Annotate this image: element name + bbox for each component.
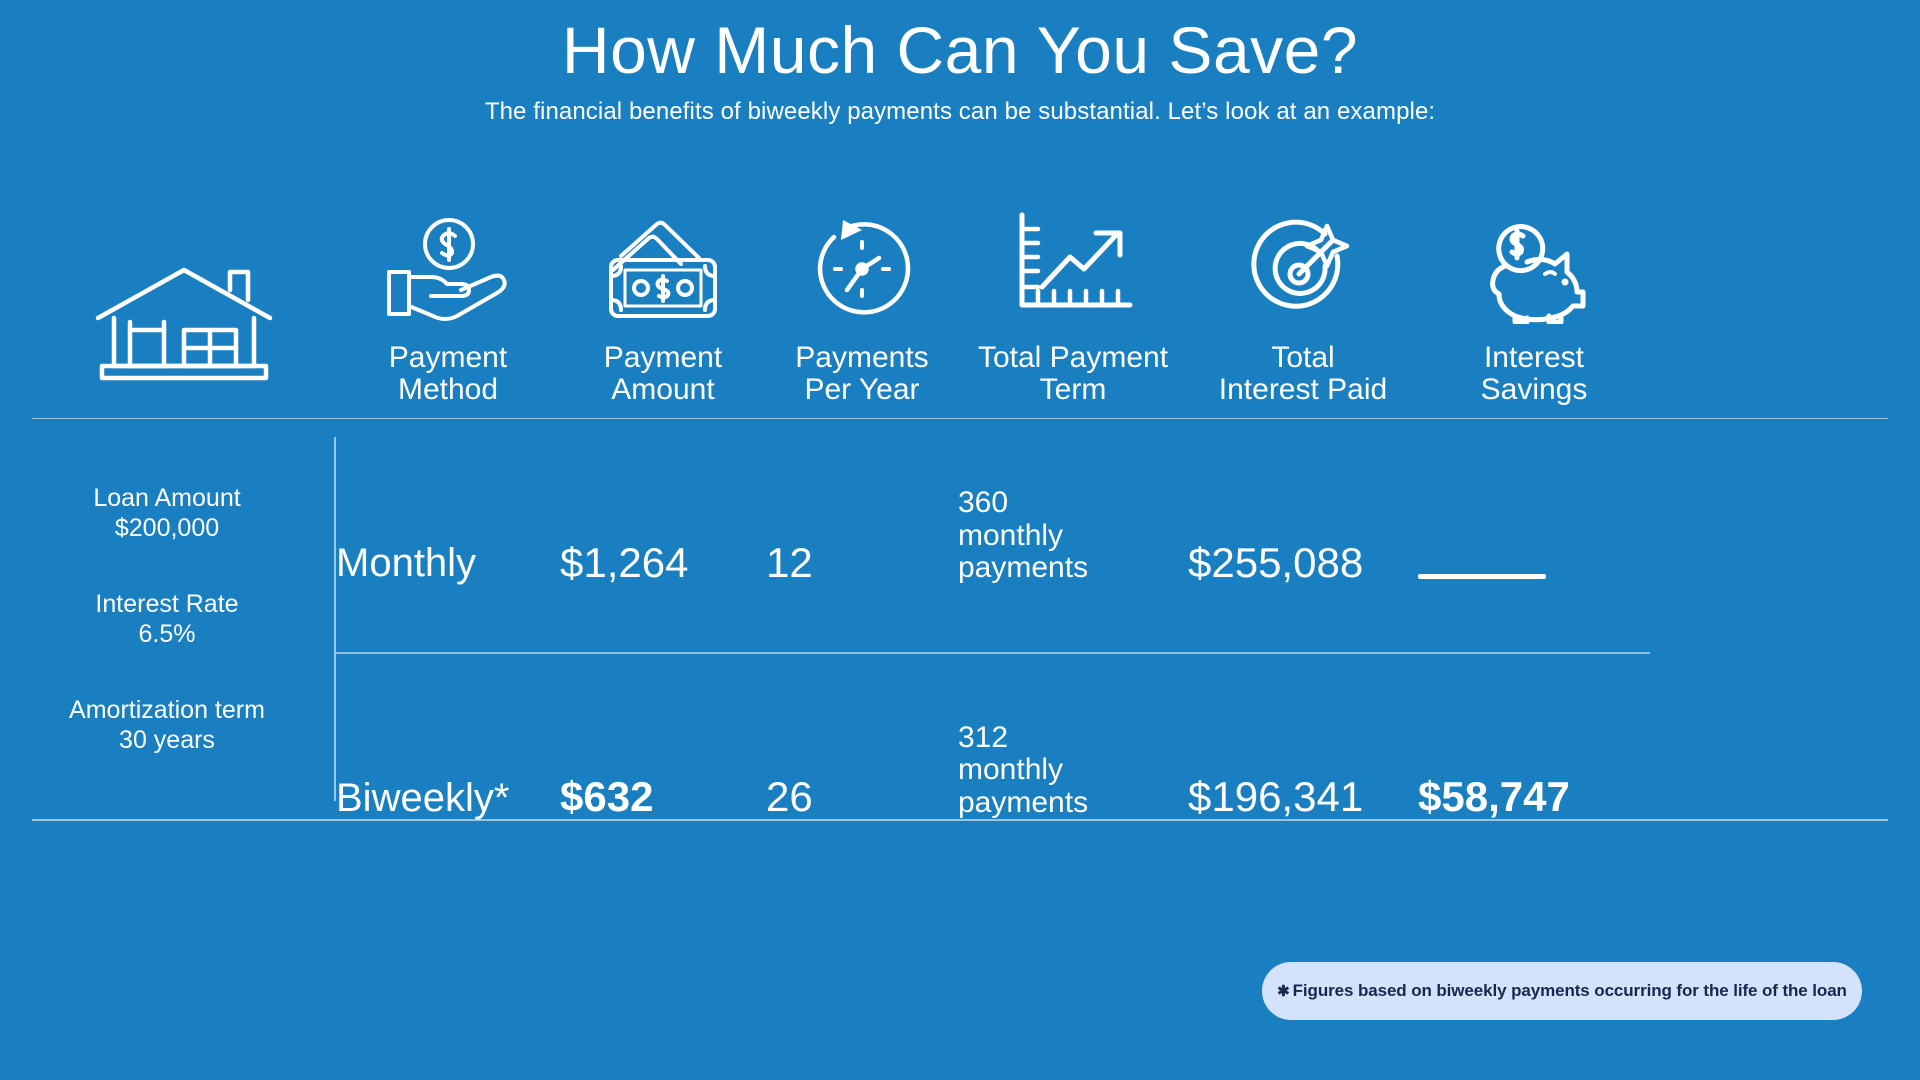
column-header-total-interest-paid: Total Interest Paid	[1188, 196, 1418, 418]
loan-parameter-amortization-term: Amortization term 30 years	[69, 695, 265, 755]
interest-rate-value: 6.5%	[95, 619, 238, 649]
page-title: How Much Can You Save?	[0, 14, 1920, 88]
table-body-grid: Loan Amount $200,000 Interest Rate 6.5% …	[32, 419, 1888, 819]
table-row: 360 monthly payments	[958, 487, 1188, 584]
target-dart-icon	[1188, 196, 1418, 324]
row-0-payment-method: Monthly	[336, 543, 560, 585]
table-row: Biweekly*	[336, 778, 560, 820]
table-body: Loan Amount $200,000 Interest Rate 6.5% …	[32, 419, 1888, 819]
column-header-loan-summary	[32, 260, 336, 418]
column-header-total-payment-term: Total Payment Term	[958, 196, 1188, 418]
column-header-payment-amount: Payment Amount	[560, 196, 766, 418]
row-1-interest-savings: $58,747	[1418, 775, 1650, 819]
column-header-payment-method: Payment Method	[336, 196, 560, 418]
amortization-term-label: Amortization term	[69, 695, 265, 725]
column-header-interest-savings: Interest Savings	[1418, 196, 1650, 418]
table-row: 26	[766, 775, 958, 819]
hand-holding-coin-icon	[336, 196, 560, 324]
row-0-payment-amount: $1,264	[560, 541, 766, 585]
clock-arrow-icon	[766, 196, 958, 324]
column-header-label-5: Total Interest Paid	[1188, 342, 1418, 406]
header: How Much Can You Save? The financial ben…	[0, 0, 1920, 126]
table-row: 312 monthly payments	[958, 722, 1188, 819]
row-0-interest-savings-dash	[1418, 574, 1546, 579]
row-1-payment-amount: $632	[560, 775, 766, 819]
table-row	[1418, 566, 1650, 584]
comparison-table: Payment Method	[32, 196, 1888, 821]
row-divider	[336, 652, 1650, 654]
table-row: $58,747	[1418, 775, 1650, 819]
growth-chart-icon	[958, 196, 1188, 324]
banknotes-icon	[560, 196, 766, 324]
loan-parameter-loan-amount: Loan Amount $200,000	[93, 483, 240, 543]
column-header-payments-per-year: Payments Per Year	[766, 196, 958, 418]
row-1-total-interest-paid: $196,341	[1188, 775, 1418, 819]
interest-rate-label: Interest Rate	[95, 589, 238, 619]
table-row: Monthly	[336, 543, 560, 585]
column-header-label-3: Payments Per Year	[766, 342, 958, 406]
table-header-row: Payment Method	[32, 196, 1888, 418]
row-0-total-interest-paid: $255,088	[1188, 541, 1418, 585]
footnote-text: Figures based on biweekly payments occur…	[1293, 981, 1847, 1001]
table-row: 12	[766, 541, 958, 585]
row-0-total-payment-term: 360 monthly payments	[958, 487, 1188, 584]
column-header-label-2: Payment Amount	[560, 342, 766, 406]
piggy-bank-icon	[1418, 196, 1650, 324]
table-row: $255,088	[1188, 541, 1418, 585]
column-header-label-6: Interest Savings	[1418, 342, 1650, 406]
amortization-term-value: 30 years	[69, 725, 265, 755]
loan-amount-value: $200,000	[93, 513, 240, 543]
footnote-pill: ✱ Figures based on biweekly payments occ…	[1262, 962, 1862, 1020]
vertical-divider	[334, 437, 336, 801]
loan-amount-label: Loan Amount	[93, 483, 240, 513]
row-0-payments-per-year: 12	[766, 541, 958, 585]
column-header-label-4: Total Payment Term	[958, 342, 1188, 406]
page-subtitle: The financial benefits of biweekly payme…	[0, 98, 1920, 126]
table-row: $632	[560, 775, 766, 819]
loan-parameters: Loan Amount $200,000 Interest Rate 6.5% …	[32, 419, 336, 819]
footer-divider	[32, 819, 1888, 821]
row-1-payments-per-year: 26	[766, 775, 958, 819]
row-1-payment-method: Biweekly*	[336, 778, 560, 820]
loan-parameter-interest-rate: Interest Rate 6.5%	[95, 589, 238, 649]
asterisk-icon: ✱	[1277, 982, 1289, 1000]
table-row: $1,264	[560, 541, 766, 585]
column-header-label-1: Payment Method	[336, 342, 560, 406]
house-icon	[32, 260, 336, 388]
row-1-total-payment-term: 312 monthly payments	[958, 722, 1188, 819]
table-row: $196,341	[1188, 775, 1418, 819]
